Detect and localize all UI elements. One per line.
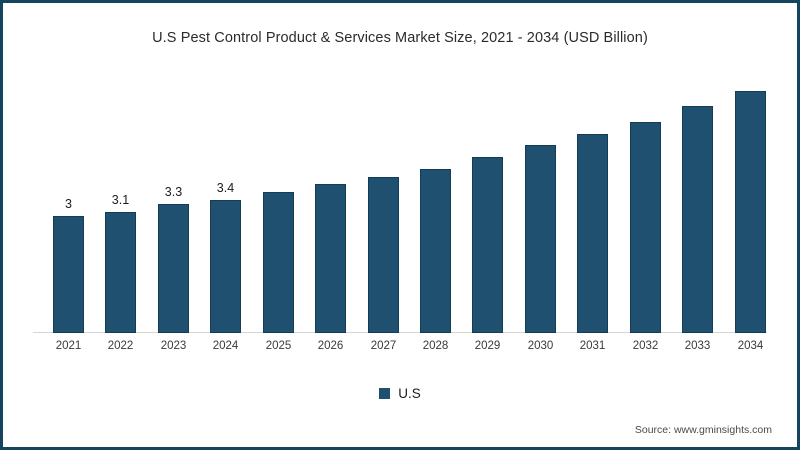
bar-2021[interactable] — [53, 216, 84, 333]
bar-slot — [672, 75, 723, 333]
x-axis-tick-labels: 2021202220232024202520262027202820292030… — [33, 340, 767, 360]
bar-2031[interactable] — [577, 134, 608, 333]
source-note: Source: www.gminsights.com — [635, 424, 772, 436]
bar-value-label-2021: 3 — [43, 197, 94, 211]
bar-2029[interactable] — [472, 157, 503, 333]
bar-slot — [253, 75, 304, 333]
bar-slot: 3 — [43, 75, 94, 333]
chart-title: U.S Pest Control Product & Services Mark… — [0, 30, 800, 46]
x-tick-2030: 2030 — [515, 340, 566, 352]
plot-area: 33.13.33.4 — [33, 75, 767, 333]
bar-slot — [358, 75, 409, 333]
x-tick-2024: 2024 — [200, 340, 251, 352]
x-tick-2025: 2025 — [253, 340, 304, 352]
bar-value-label-2022: 3.1 — [95, 193, 146, 207]
bar-2027[interactable] — [368, 177, 399, 333]
x-tick-2032: 2032 — [620, 340, 671, 352]
x-tick-2029: 2029 — [462, 340, 513, 352]
bar-value-label-2024: 3.4 — [200, 181, 251, 195]
bar-2024[interactable] — [210, 200, 241, 333]
bar-2030[interactable] — [525, 145, 556, 333]
x-tick-2033: 2033 — [672, 340, 723, 352]
bar-slot — [515, 75, 566, 333]
x-tick-2031: 2031 — [567, 340, 618, 352]
bar-slot — [410, 75, 461, 333]
bar-2034[interactable] — [735, 91, 766, 333]
x-tick-2022: 2022 — [95, 340, 146, 352]
bar-2025[interactable] — [263, 192, 294, 333]
x-tick-2034: 2034 — [725, 340, 776, 352]
bar-slot: 3.3 — [148, 75, 199, 333]
bar-slot — [462, 75, 513, 333]
bar-2032[interactable] — [630, 122, 661, 333]
bar-slot — [725, 75, 776, 333]
chart-legend: U.S — [0, 386, 800, 401]
bar-slot — [567, 75, 618, 333]
bar-slot: 3.4 — [200, 75, 251, 333]
x-tick-2021: 2021 — [43, 340, 94, 352]
bar-2028[interactable] — [420, 169, 451, 333]
bar-2022[interactable] — [105, 212, 136, 333]
x-tick-2026: 2026 — [305, 340, 356, 352]
bar-value-label-2023: 3.3 — [148, 185, 199, 199]
bar-slot — [620, 75, 671, 333]
x-tick-2028: 2028 — [410, 340, 461, 352]
x-tick-2023: 2023 — [148, 340, 199, 352]
bar-2033[interactable] — [682, 106, 713, 333]
bar-slot — [305, 75, 356, 333]
legend-label-us: U.S — [398, 386, 421, 401]
bar-2023[interactable] — [158, 204, 189, 333]
chart-figure: U.S Pest Control Product & Services Mark… — [0, 0, 800, 450]
bar-slot: 3.1 — [95, 75, 146, 333]
x-tick-2027: 2027 — [358, 340, 409, 352]
bar-2026[interactable] — [315, 184, 346, 333]
legend-swatch-us — [379, 388, 390, 399]
